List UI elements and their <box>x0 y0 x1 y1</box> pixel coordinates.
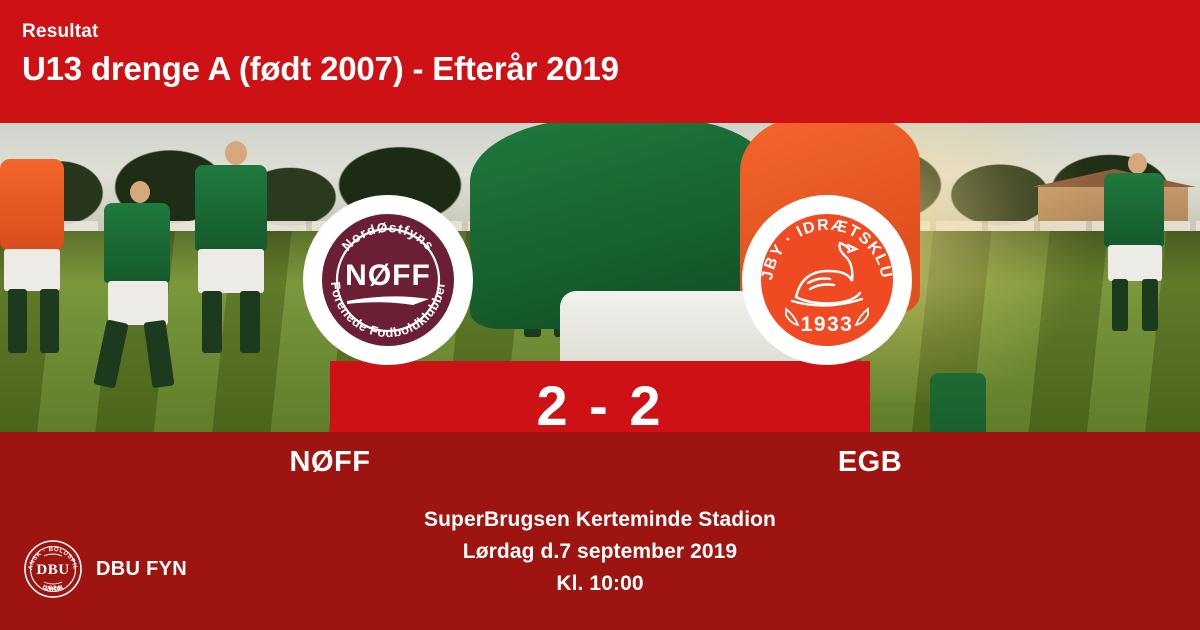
svg-text:1933: 1933 <box>801 313 854 336</box>
svg-text:1889: 1889 <box>44 585 62 592</box>
header-kicker: Resultat <box>22 22 1200 43</box>
team-names-row: NØFF EGB <box>0 446 1200 479</box>
home-team-badge: NordØstfyns Forenede Fodboldklubber NØFF <box>303 195 473 365</box>
away-team-name: EGB <box>720 446 1020 479</box>
ejby-badge-svg: EJBY · IDRÆTSKLUB 1933 <box>756 209 898 351</box>
poster-header: Resultat U13 drenge A (født 2007) - Efte… <box>0 0 1200 123</box>
match-venue: SuperBrugsen Kerteminde Stadion <box>0 504 1200 536</box>
away-team-badge: EJBY · IDRÆTSKLUB 1933 <box>742 195 912 365</box>
dbu-fyn-logo: DANSK · BOLDSPIL · UNION DBU 1889 DBU FY… <box>24 540 187 598</box>
result-poster: Resultat U13 drenge A (født 2007) - Efte… <box>0 0 1200 630</box>
home-team-name: NØFF <box>180 446 480 479</box>
score-value: 2 - 2 <box>330 361 870 432</box>
noff-badge-svg: NordØstfyns Forenede Fodboldklubber NØFF <box>317 209 459 351</box>
foreground-leg-far <box>930 373 986 432</box>
svg-text:DBU: DBU <box>36 562 69 578</box>
match-photo: 2 - 2 <box>0 123 1200 432</box>
page-title: U13 drenge A (født 2007) - Efterår 2019 <box>22 48 1200 89</box>
score-band: 2 - 2 <box>330 361 870 432</box>
match-info-band: NØFF EGB SuperBrugsen Kerteminde Stadion… <box>0 432 1200 630</box>
dbu-emblem-icon: DANSK · BOLDSPIL · UNION DBU 1889 <box>24 540 82 598</box>
dbu-fyn-label: DBU FYN <box>96 558 187 581</box>
svg-text:NØFF: NØFF <box>345 259 431 292</box>
